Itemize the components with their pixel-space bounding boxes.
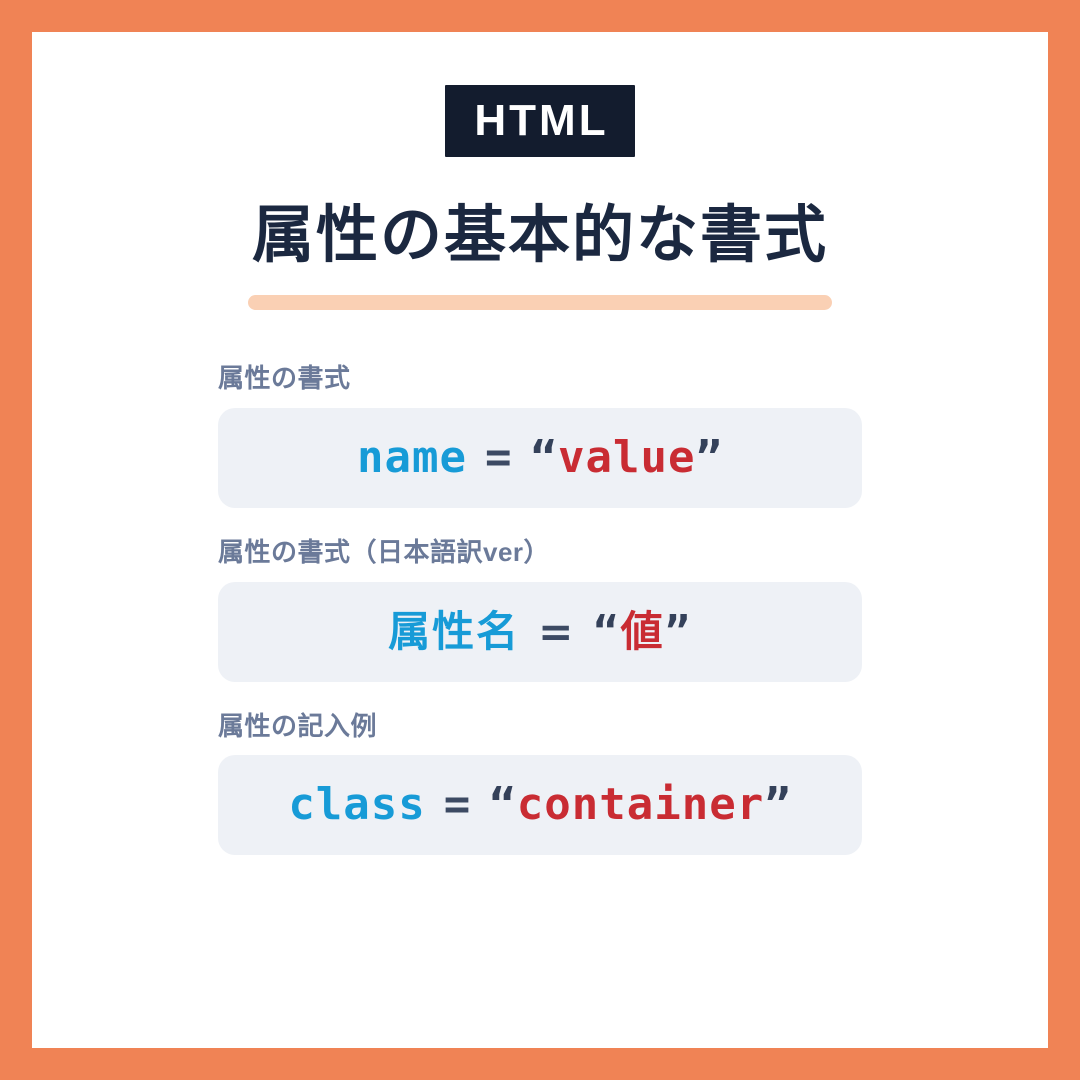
section-label: 属性の書式 [218,362,862,396]
code-token-quote-close: ” [665,607,692,656]
code-box: name=“value” [218,408,862,508]
code-line: class=“container” [288,783,791,827]
code-token-name: class [288,779,425,830]
title-wrapper: 属性の基本的な書式 [240,159,840,316]
code-line: 属性名=“値” [388,611,692,653]
code-token-value: value [558,432,695,483]
section-attribute-syntax: 属性の書式 name=“value” [218,362,862,508]
poster-background: HTML 属性の基本的な書式 属性の書式 name=“value” 属性の書式（… [0,0,1080,1080]
code-box: 属性名=“値” [218,582,862,682]
code-token-name: name [357,432,467,483]
badge-row: HTML [32,85,1048,143]
language-badge: HTML [445,85,634,157]
section-label: 属性の書式（日本語訳ver） [218,536,862,570]
code-token-quote-open: “ [531,432,559,483]
code-box: class=“container” [218,755,862,855]
code-token-equals: = [481,432,517,483]
section-label: 属性の記入例 [218,710,862,744]
code-line: name=“value” [357,436,723,480]
code-token-value: container [517,779,764,830]
header: HTML 属性の基本的な書式 [32,32,1048,316]
code-token-value: 値 [621,607,665,656]
title-underline-accent [248,295,832,310]
section-attribute-syntax-japanese: 属性の書式（日本語訳ver） 属性名=“値” [218,536,862,682]
section-attribute-example: 属性の記入例 class=“container” [218,710,862,856]
sections-list: 属性の書式 name=“value” 属性の書式（日本語訳ver） 属性名=“値… [218,362,862,855]
code-token-quote-open: “ [489,779,517,830]
code-token-quote-close: ” [764,779,792,830]
code-token-quote-open: “ [593,607,620,656]
code-token-equals: = [534,607,579,656]
code-token-quote-close: ” [695,432,723,483]
page-title: 属性の基本的な書式 [240,201,840,274]
content-card: HTML 属性の基本的な書式 属性の書式 name=“value” 属性の書式（… [32,32,1048,1048]
code-token-equals: = [440,779,476,830]
code-token-name: 属性名 [388,607,520,656]
